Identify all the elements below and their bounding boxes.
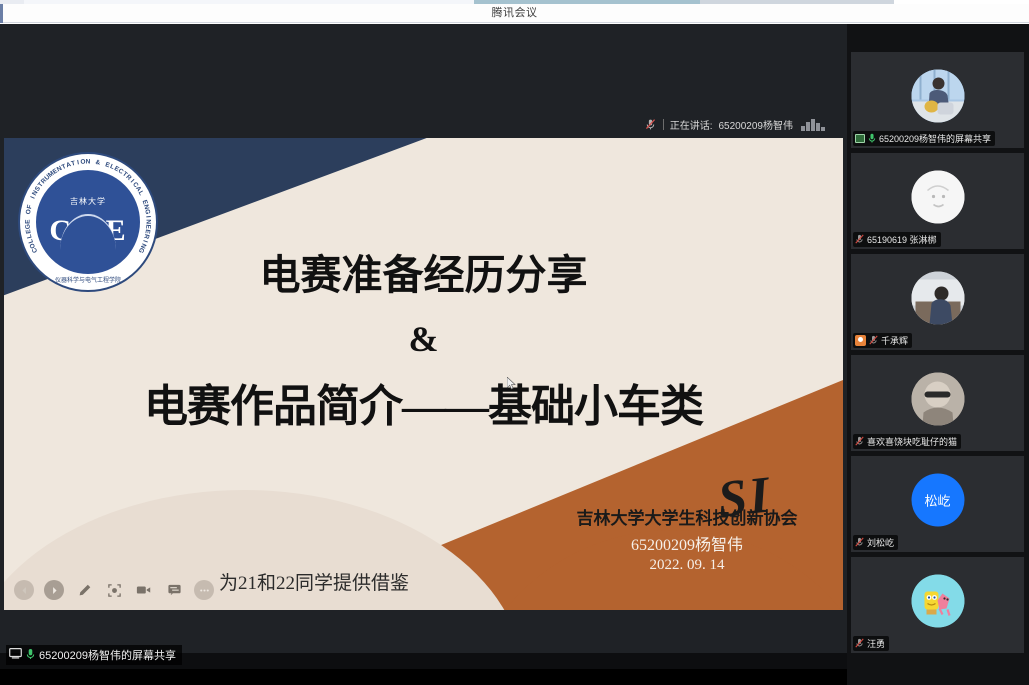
mic-muted-icon — [644, 118, 657, 131]
credit-author: 65200209杨智伟 — [537, 531, 837, 555]
slide-title-line-2: 电赛作品简介——基础小车类 — [4, 370, 843, 434]
screen-share-icon — [855, 134, 865, 143]
avatar — [911, 575, 964, 628]
participant-name-row: 千承辉 — [853, 333, 912, 348]
slide-notes-button[interactable] — [164, 580, 184, 600]
credit-date: 2022. 09. 14 — [537, 557, 837, 574]
screen-share-status-label: 65200209杨智伟的屏幕共享 — [39, 647, 176, 663]
avatar-initials: 松屹 — [924, 491, 950, 510]
participant-name: 千承辉 — [881, 334, 908, 347]
slideshow-toolbar — [14, 580, 214, 600]
speaker-divider — [663, 119, 664, 130]
mic-on-icon — [868, 133, 876, 145]
mic-muted-icon — [855, 234, 864, 246]
participant-name-row: 刘松屹 — [853, 535, 898, 550]
mic-muted-icon — [869, 335, 878, 347]
next-slide-button[interactable] — [44, 580, 64, 600]
avatar — [911, 70, 964, 123]
stage-letterbox-top — [0, 24, 847, 115]
previous-slide-button[interactable] — [14, 580, 34, 600]
participant-name-row: 汪勇 — [853, 636, 889, 651]
participant-name: 65200209杨智伟的屏幕共享 — [879, 132, 991, 145]
speaking-prefix: 正在讲话: — [670, 117, 713, 132]
participant-strip[interactable]: 65200209杨智伟的屏幕共享 65190619 张淋梆 — [847, 24, 1029, 685]
powerpoint-slide[interactable]: COLLEGE OF INSTRUMENTATION & ELECTRICAL … — [4, 138, 843, 610]
participant-tile-3[interactable]: 千承辉 — [851, 254, 1024, 350]
participant-name: 汪勇 — [867, 637, 885, 650]
participant-name: 刘松屹 — [867, 536, 894, 549]
logo-cn-top-text: 吉林大学 — [36, 196, 140, 207]
slide-title-line-1: 电赛准备经历分享 — [4, 250, 843, 300]
participant-name-row: 65200209杨智伟的屏幕共享 — [853, 131, 995, 146]
participant-tile-1[interactable]: 65200209杨智伟的屏幕共享 — [851, 52, 1024, 148]
avatar — [911, 373, 964, 426]
host-badge-icon — [855, 335, 866, 346]
more-options-button[interactable] — [194, 580, 214, 600]
audio-wave-icon — [801, 119, 825, 131]
pen-annotation-button[interactable] — [74, 580, 94, 600]
screen-share-status-bar: 65200209杨智伟的屏幕共享 — [6, 645, 182, 665]
active-speaker-indicator: 正在讲话: 65200209杨智伟 — [644, 117, 825, 132]
participant-name: 喜欢喜饶块吃耻仔的猫 — [867, 435, 957, 448]
subtitles-button[interactable] — [134, 580, 154, 600]
participant-tile-2[interactable]: 65190619 张淋梆 — [851, 153, 1024, 249]
shared-screen-stage: 正在讲话: 65200209杨智伟 COLLEGE OF INSTRUMENTA… — [0, 24, 847, 669]
slide-ampersand: & — [4, 318, 843, 360]
participant-tile-6[interactable]: 汪勇 — [851, 557, 1024, 653]
window-titlebar: 腾讯会议 — [0, 0, 1029, 24]
credit-organization: 吉林大学大学生科技创新协会 — [537, 504, 837, 529]
avatar — [911, 171, 964, 224]
mic-muted-icon — [855, 638, 864, 650]
participant-name-row: 喜欢喜饶块吃耻仔的猫 — [853, 434, 961, 449]
participant-name: 65190619 张淋梆 — [867, 233, 937, 246]
slide-credits: 吉林大学大学生科技创新协会 65200209杨智伟 2022. 09. 14 — [537, 504, 837, 574]
app-title: 腾讯会议 — [0, 5, 1029, 21]
avatar: 松屹 — [911, 474, 964, 527]
avatar — [911, 272, 964, 325]
speaking-name: 65200209杨智伟 — [719, 117, 794, 132]
mic-on-icon — [26, 648, 35, 663]
zoom-slide-button[interactable] — [104, 580, 124, 600]
participant-tile-5[interactable]: 松屹 刘松屹 — [851, 456, 1024, 552]
mouse-cursor — [507, 377, 517, 391]
mic-muted-icon — [855, 537, 864, 549]
participant-tile-4[interactable]: 喜欢喜饶块吃耻仔的猫 — [851, 355, 1024, 451]
screen-share-icon — [9, 648, 22, 662]
mic-muted-icon — [855, 436, 864, 448]
participant-name-row: 65190619 张淋梆 — [853, 232, 941, 247]
